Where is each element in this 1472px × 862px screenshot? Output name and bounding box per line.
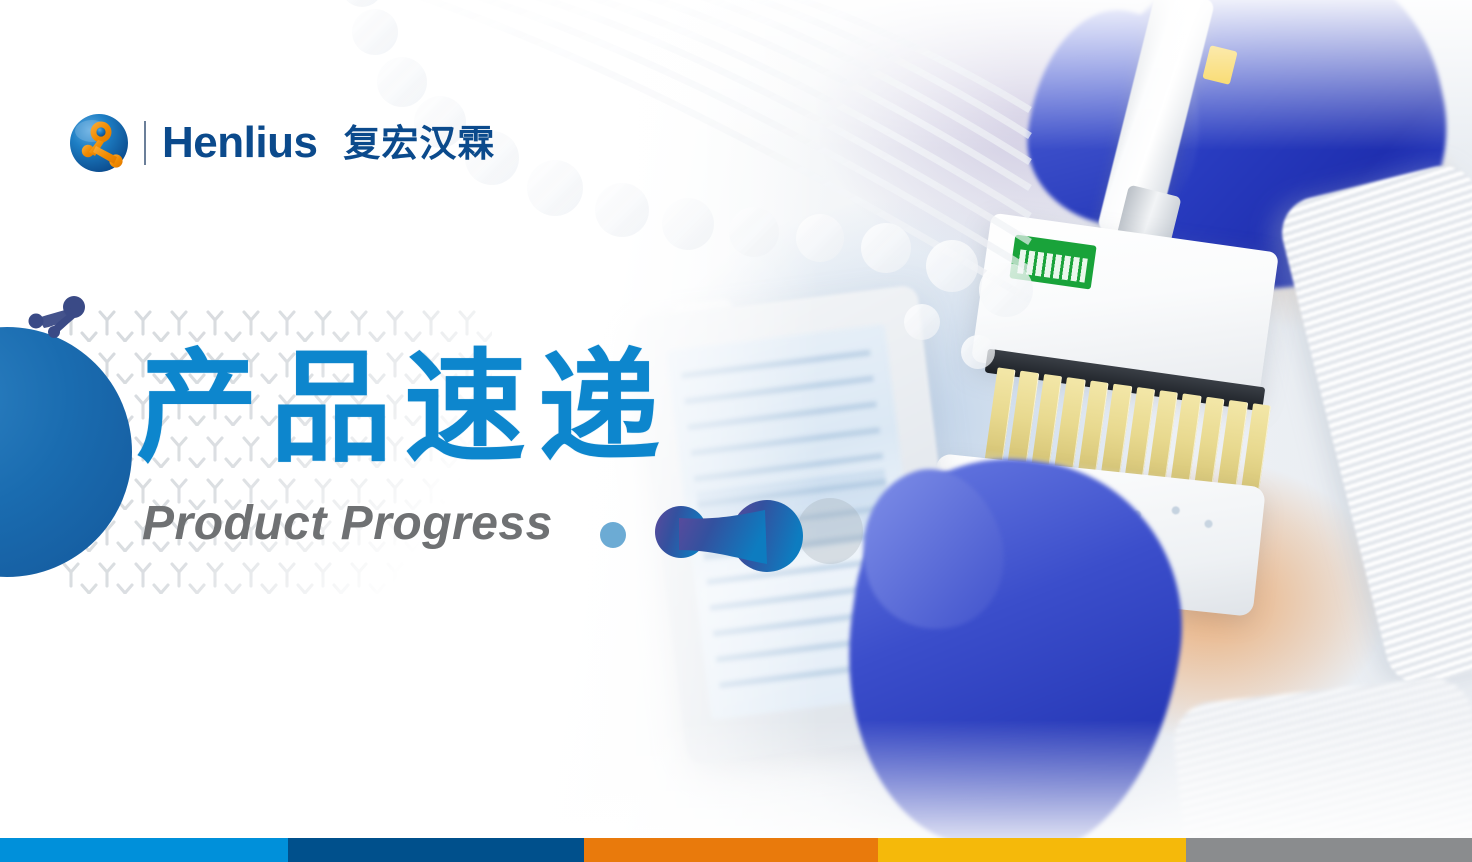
slide-canvas: Henlius 复宏汉霖 产品速递 Product Progress [0, 0, 1472, 862]
lab-coat-sleeve-right [1274, 158, 1472, 692]
molecule-small-icon [28, 296, 88, 340]
colorbar-segment-gray [1186, 838, 1472, 862]
colorbar-segment-orange [584, 838, 878, 862]
photo-fade-bottom [0, 720, 1472, 840]
accent-dot-light-blue [600, 522, 626, 548]
logo-name-cn: 复宏汉霖 [343, 125, 495, 162]
accent-circle-gray [797, 498, 863, 564]
colorbar-segment-light-blue [0, 838, 288, 862]
logo-divider [144, 121, 146, 165]
brand-logo[interactable]: Henlius 复宏汉霖 [68, 112, 495, 174]
slide-subtitle-en: Product Progress [142, 500, 553, 548]
henlius-molecule-logo-icon [68, 112, 130, 174]
bottom-accent-bar [0, 838, 1472, 862]
molecule-large-icon [655, 494, 805, 574]
colorbar-segment-dark-blue [288, 838, 584, 862]
colorbar-segment-yellow [878, 838, 1186, 862]
slide-title-cn: 产品速递 [136, 346, 672, 470]
logo-name-en: Henlius [162, 121, 317, 165]
